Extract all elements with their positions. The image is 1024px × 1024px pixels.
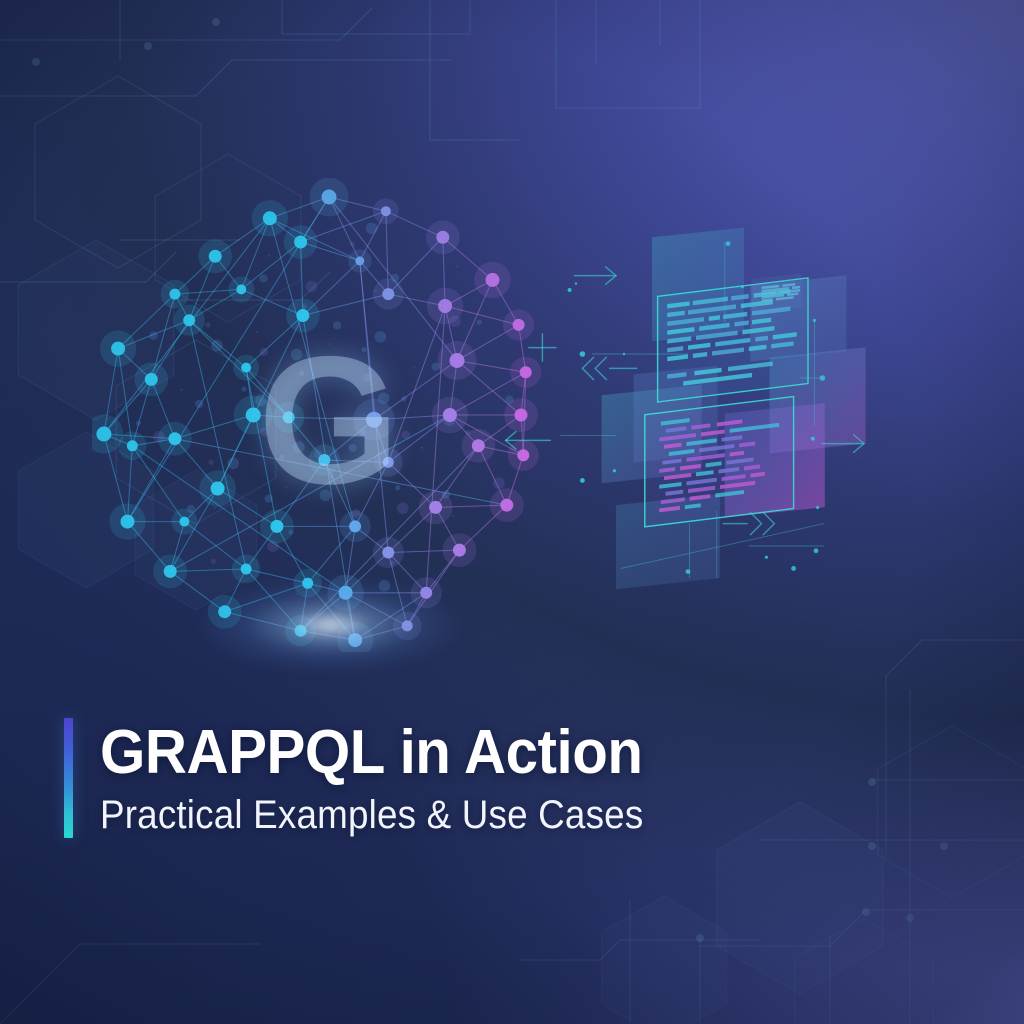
sphere-speckle-54 xyxy=(260,348,268,356)
sphere-node-30 xyxy=(472,439,485,452)
circuit-trace-br-9 xyxy=(0,944,260,1024)
circuit-trace-tl-1 xyxy=(0,60,452,96)
panel-dot-0 xyxy=(568,288,572,292)
panel-dot-15 xyxy=(765,556,768,559)
sphere-node-42 xyxy=(241,564,252,575)
sphere-speckle-5 xyxy=(477,320,482,325)
sphere-speckle-38 xyxy=(195,400,203,408)
circuit-dot-2 xyxy=(212,18,220,26)
circuit-trace-br-8 xyxy=(520,940,760,960)
sphere-speckle-24 xyxy=(358,465,360,467)
sphere-node-2 xyxy=(436,231,449,244)
sphere-node-22 xyxy=(246,408,261,423)
network-sphere-graphic xyxy=(92,178,566,652)
chevron xyxy=(582,357,593,379)
sphere-node-4 xyxy=(209,250,222,263)
sphere-node-21 xyxy=(168,432,181,445)
sphere-node-23 xyxy=(366,412,382,428)
sphere-node-34 xyxy=(179,517,189,527)
circuit-dot-4 xyxy=(906,914,914,922)
sphere-node-0 xyxy=(322,190,337,205)
circuit-trace-br-1 xyxy=(700,910,1024,946)
code-window-cluster xyxy=(586,186,986,646)
panel-dot-7 xyxy=(820,375,826,381)
sphere-node-20 xyxy=(96,427,111,442)
plus-icon xyxy=(529,334,556,361)
sphere-node-47 xyxy=(295,625,307,637)
sphere-speckle-46 xyxy=(149,331,157,339)
panel-dot-11 xyxy=(811,437,815,441)
sphere-speckle-1 xyxy=(279,454,284,459)
panel-dot-3 xyxy=(623,353,625,355)
sphere-speckle-19 xyxy=(320,490,332,502)
panel-dot-13 xyxy=(791,566,796,571)
sphere-speckle-2 xyxy=(333,321,341,329)
sphere-node-29 xyxy=(383,457,394,468)
panel-dot-6 xyxy=(813,319,816,322)
hexagon-decor-6 xyxy=(717,802,883,994)
sphere-speckle-41 xyxy=(299,371,304,376)
title-text-group: GRAPPQL in Action Practical Examples & U… xyxy=(100,718,691,838)
code-window-secondary xyxy=(645,397,794,527)
sphere-speckle-52 xyxy=(457,266,459,268)
circuit-dot-0 xyxy=(32,58,40,66)
poster-canvas: G GRAPPQL in Action Practical Examples &… xyxy=(0,0,1024,1024)
sphere-node-14 xyxy=(145,373,158,386)
sphere-node-32 xyxy=(211,482,225,496)
sphere-node-43 xyxy=(302,578,313,589)
sphere-speckle-7 xyxy=(291,349,303,361)
sphere-node-26 xyxy=(283,411,295,423)
sphere-speckle-20 xyxy=(256,331,258,333)
panel-dot-4 xyxy=(726,241,731,246)
sphere-speckle-69 xyxy=(211,559,216,564)
sphere-node-5 xyxy=(294,236,307,249)
circuit-dot-5 xyxy=(862,908,870,916)
sphere-node-36 xyxy=(349,520,361,532)
sphere-node-46 xyxy=(218,605,231,618)
panel-dot-8 xyxy=(580,478,585,483)
sphere-node-45 xyxy=(420,587,432,599)
sphere-speckle-31 xyxy=(375,331,387,343)
sphere-node-49 xyxy=(402,620,413,631)
sphere-speckle-60 xyxy=(413,366,415,368)
panel-dot-10 xyxy=(816,506,819,509)
sphere-node-17 xyxy=(450,353,465,368)
code-window-mini xyxy=(752,274,802,313)
circuit-dot-3 xyxy=(940,842,948,850)
sphere-speckle-62 xyxy=(259,274,267,282)
sphere-node-48 xyxy=(348,633,362,647)
sphere-speckle-56 xyxy=(214,507,216,509)
sphere-speckle-9 xyxy=(209,460,214,465)
sphere-node-37 xyxy=(429,501,442,514)
sphere-speckle-42 xyxy=(402,431,410,439)
circuit-trace-tl-3 xyxy=(282,0,470,34)
hexagon-decor-8 xyxy=(795,918,934,1024)
sphere-speckle-18 xyxy=(363,374,371,382)
network-sphere xyxy=(92,178,566,652)
sphere-node-15 xyxy=(296,309,309,322)
circuit-dot-8 xyxy=(696,934,704,942)
sphere-node-39 xyxy=(382,547,394,559)
sphere-node-33 xyxy=(121,515,135,529)
sphere-speckle-35 xyxy=(293,441,305,453)
sphere-node-28 xyxy=(318,454,330,466)
sphere-speckle-53 xyxy=(329,474,334,479)
sphere-node-11 xyxy=(382,288,394,300)
sphere-speckle-48 xyxy=(285,486,287,488)
sphere-speckle-3 xyxy=(397,503,409,515)
code-window-graphic xyxy=(496,176,896,636)
panel-dot-1 xyxy=(575,282,577,284)
circuit-trace-tl-0 xyxy=(0,8,372,40)
sphere-node-13 xyxy=(111,342,125,356)
circuit-trace-br-0 xyxy=(886,640,1024,860)
sphere-speckle-40 xyxy=(296,593,298,595)
circuit-trace-tl-4 xyxy=(430,0,520,140)
panel-dot-9 xyxy=(613,469,616,472)
sphere-node-9 xyxy=(183,314,195,326)
sphere-node-1 xyxy=(381,206,391,216)
sphere-node-12 xyxy=(438,299,452,313)
page-title: GRAPPQL in Action xyxy=(100,722,655,784)
panel-dot-2 xyxy=(580,351,586,357)
sphere-speckle-37 xyxy=(395,485,400,490)
sphere-speckle-36 xyxy=(328,343,330,345)
sphere-speckle-33 xyxy=(205,322,210,327)
sphere-speckle-43 xyxy=(227,458,239,470)
sphere-speckle-12 xyxy=(286,391,288,393)
chevron xyxy=(750,512,761,534)
sphere-speckle-65 xyxy=(362,347,367,352)
sphere-node-27 xyxy=(127,440,138,451)
sphere-speckle-67 xyxy=(211,340,223,352)
sphere-speckle-4 xyxy=(181,389,183,391)
sphere-speckle-68 xyxy=(487,387,489,389)
sphere-node-7 xyxy=(169,289,180,300)
chevron-double-left-icon xyxy=(582,357,636,379)
sphere-node-18 xyxy=(241,363,251,373)
sphere-speckle-25 xyxy=(241,386,246,391)
circuit-trace-tl-5 xyxy=(556,0,700,108)
arrow-right-icon xyxy=(574,267,616,285)
title-block: GRAPPQL in Action Practical Examples & U… xyxy=(64,718,691,838)
sphere-speckle-28 xyxy=(268,255,270,257)
sphere-speckle-16 xyxy=(452,515,454,517)
sphere-node-41 xyxy=(164,565,177,578)
sphere-speckle-13 xyxy=(401,396,406,401)
page-subtitle: Practical Examples & Use Cases xyxy=(100,795,643,835)
sphere-speckle-17 xyxy=(136,421,141,426)
sphere-node-6 xyxy=(355,256,364,265)
sphere-node-44 xyxy=(339,586,353,600)
sphere-speckle-11 xyxy=(379,580,391,592)
sphere-node-40 xyxy=(453,544,466,557)
arrow-left-icon xyxy=(506,432,551,450)
sphere-speckle-15 xyxy=(306,281,318,293)
sphere-node-35 xyxy=(270,520,283,533)
sphere-node-8 xyxy=(236,284,246,294)
sphere-node-3 xyxy=(263,211,277,225)
sphere-speckle-57 xyxy=(350,242,355,247)
sphere-speckle-8 xyxy=(421,447,423,449)
circuit-dot-6 xyxy=(868,842,876,850)
sphere-node-24 xyxy=(443,408,457,422)
sphere-speckle-58 xyxy=(349,444,357,452)
sphere-speckle-23 xyxy=(366,223,378,235)
chevron xyxy=(595,357,606,379)
sphere-speckle-14 xyxy=(265,494,273,502)
hexagon-decor-9 xyxy=(602,896,727,1024)
panel-dot-14 xyxy=(814,548,819,553)
panel-dot-12 xyxy=(686,569,691,574)
accent-bar xyxy=(64,718,73,838)
chevron xyxy=(763,512,774,534)
circuit-dot-7 xyxy=(868,778,876,786)
circuit-dot-1 xyxy=(144,42,152,50)
hexagon-decor-7 xyxy=(878,726,1024,898)
